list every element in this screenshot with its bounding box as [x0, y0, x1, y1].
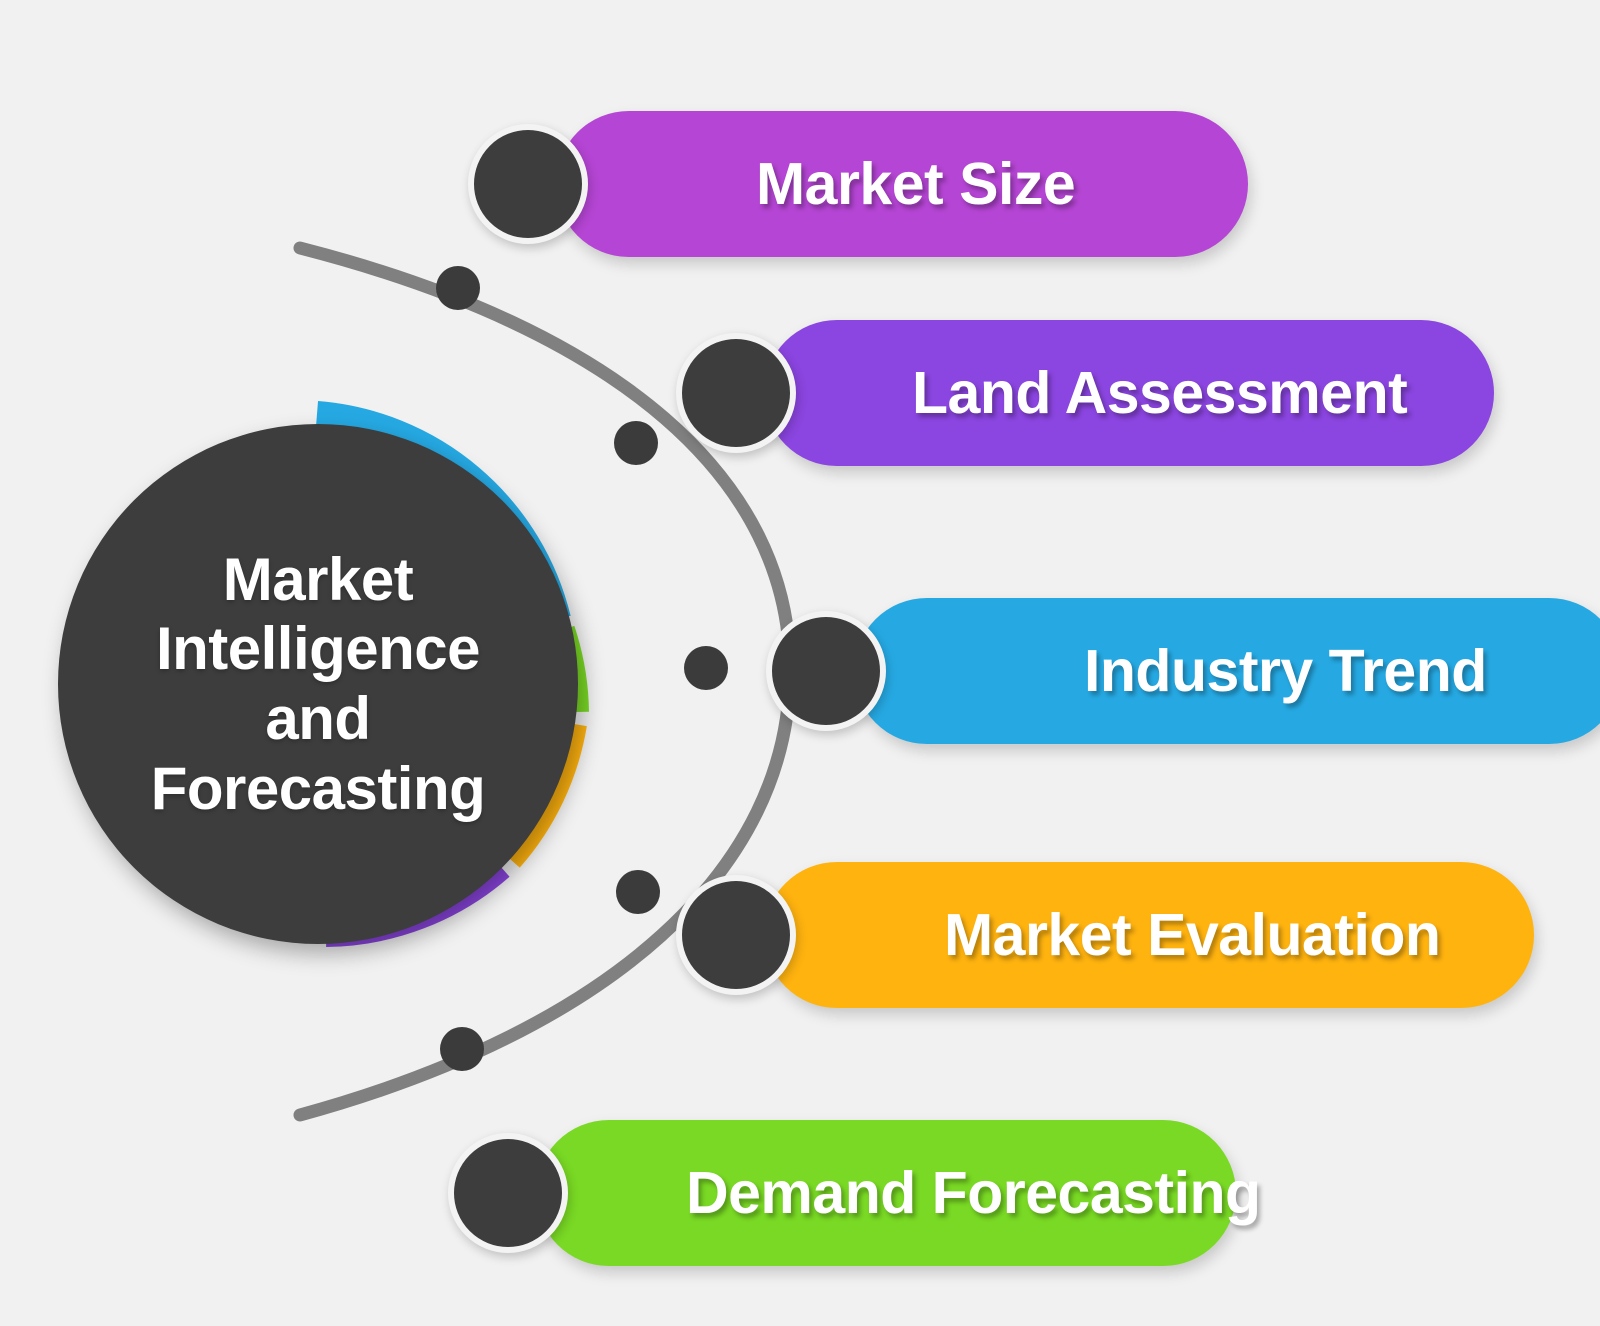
- branch-pill-industry-trend[interactable]: Industry Trend: [854, 598, 1600, 744]
- branch-label-market-evaluation: Market Evaluation: [944, 901, 1440, 969]
- central-hub[interactable]: Market Intelligence and Forecasting: [38, 372, 638, 972]
- branch-node-market-evaluation[interactable]: [676, 875, 796, 995]
- branch-pill-market-size[interactable]: Market Size: [556, 111, 1248, 257]
- hub-disc[interactable]: Market Intelligence and Forecasting: [58, 424, 578, 944]
- branch-pill-land-assessment[interactable]: Land Assessment: [764, 320, 1494, 466]
- branch-node-industry-trend[interactable]: [766, 611, 886, 731]
- branch-pill-demand-forecasting[interactable]: Demand Forecasting: [536, 1120, 1236, 1266]
- branch-label-land-assessment: Land Assessment: [912, 359, 1407, 427]
- branch-label-industry-trend: Industry Trend: [1084, 637, 1487, 705]
- connector-node-1: [436, 266, 480, 310]
- connector-node-5: [440, 1027, 484, 1071]
- connector-node-3: [684, 646, 728, 690]
- branch-label-market-size: Market Size: [756, 150, 1075, 218]
- branch-node-demand-forecasting[interactable]: [448, 1133, 568, 1253]
- hub-title: Market Intelligence and Forecasting: [125, 545, 512, 823]
- branch-pill-market-evaluation[interactable]: Market Evaluation: [764, 862, 1534, 1008]
- branch-label-demand-forecasting: Demand Forecasting: [686, 1159, 1261, 1227]
- branch-node-market-size[interactable]: [468, 124, 588, 244]
- branch-node-land-assessment[interactable]: [676, 333, 796, 453]
- diagram-canvas: Market Intelligence and Forecasting Mark…: [0, 0, 1600, 1326]
